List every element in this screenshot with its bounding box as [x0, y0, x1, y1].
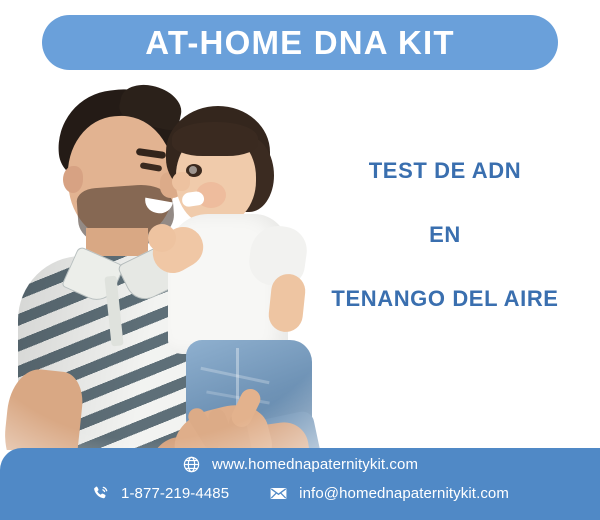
footer-contact-row: 1-877-219-4485 info@homednapaternitykit.…: [0, 484, 600, 503]
website-text: www.homednapaternitykit.com: [212, 456, 418, 473]
headline-line-2: EN: [300, 224, 590, 246]
child-bangs: [172, 122, 258, 156]
headline-line-3: TENANGO DEL AIRE: [300, 288, 590, 310]
email-text: info@homednapaternitykit.com: [299, 485, 509, 502]
email-item[interactable]: info@homednapaternitykit.com: [269, 484, 509, 503]
phone-icon: [91, 484, 110, 503]
father-ear: [63, 166, 83, 193]
child-nose: [172, 172, 190, 191]
headline-line-1: TEST DE ADN: [300, 160, 590, 182]
headline-block: TEST DE ADN EN TENANGO DEL AIRE: [300, 160, 590, 310]
banner-title: AT-HOME DNA KIT: [145, 24, 454, 62]
phone-item[interactable]: 1-877-219-4485: [91, 484, 229, 503]
banner-pill: AT-HOME DNA KIT: [42, 15, 558, 70]
phone-text: 1-877-219-4485: [121, 485, 229, 502]
photo-illustration: [0, 78, 330, 450]
poster-canvas: AT-HOME DNA KIT: [0, 0, 600, 520]
child-hand-left: [148, 224, 176, 252]
family-photo: [0, 78, 330, 450]
footer-bar: www.homednapaternitykit.com 1-877-219-44…: [0, 448, 600, 520]
father-arm: [0, 366, 85, 450]
website-item[interactable]: www.homednapaternitykit.com: [182, 455, 418, 474]
child-eye-highlight: [189, 166, 197, 174]
globe-icon: [182, 455, 201, 474]
envelope-icon: [269, 484, 288, 503]
footer-website-row: www.homednapaternitykit.com: [0, 455, 600, 474]
